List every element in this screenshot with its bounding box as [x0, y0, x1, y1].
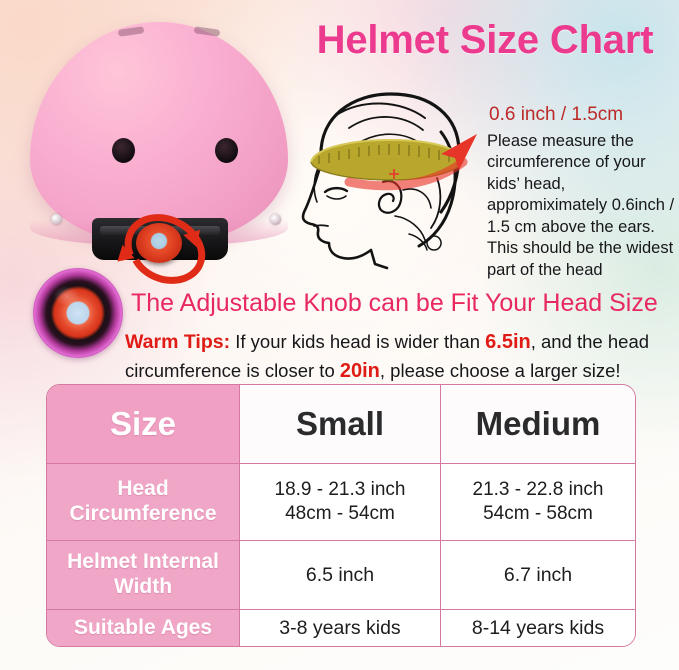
table-row: Head Circumference 18.9 - 21.3 inch48cm …: [47, 464, 635, 541]
adjustable-knob-headline: The Adjustable Knob can be Fit Your Head…: [131, 289, 658, 318]
row-label-suitable-ages: Suitable Ages: [47, 610, 240, 646]
helmet-top-vent-left: [118, 26, 145, 37]
warm-tips-text-1: If your kids head is wider than: [230, 331, 485, 352]
warm-tips-highlight-circumference: 20in: [340, 360, 380, 382]
helmet-shell: [30, 22, 288, 244]
adjustable-knob-icon: [33, 268, 123, 358]
table-header-size: Size: [47, 385, 240, 463]
helmet-rivet-right: [270, 214, 281, 225]
cell-suitable-ages-small: 3-8 years kids: [240, 610, 441, 646]
infographic-page: Helmet Size Chart: [0, 0, 679, 670]
row-label-head-circumference: Head Circumference: [47, 464, 240, 540]
helmet-product-image: [18, 16, 303, 278]
cell-internal-width-small: 6.5 inch: [240, 541, 441, 609]
table-row: Helmet Internal Width 6.5 inch 6.7 inch: [47, 541, 635, 610]
helmet-vent-hole-left: [112, 138, 135, 163]
warm-tips-label: Warm Tips:: [125, 331, 230, 353]
table-header-small: Small: [240, 385, 441, 463]
row-label-helmet-internal-width: Helmet Internal Width: [47, 541, 240, 609]
cell-head-circumference-small: 18.9 - 21.3 inch48cm - 54cm: [240, 464, 441, 540]
cell-head-circumference-medium: 21.3 - 22.8 inch54cm - 58cm: [441, 464, 635, 540]
measure-offset-label: 0.6 inch / 1.5cm: [489, 104, 623, 126]
page-title: Helmet Size Chart: [300, 19, 670, 62]
table-row: Suitable Ages 3-8 years kids 8-14 years …: [47, 610, 635, 646]
warm-tips-text-3: , please choose a larger size!: [380, 360, 621, 381]
warm-tips-note: Warm Tips: If your kids head is wider th…: [125, 328, 678, 385]
cell-suitable-ages-medium: 8-14 years kids: [441, 610, 635, 646]
helmet-top-vent-right: [194, 26, 221, 37]
helmet-rivet-left: [51, 214, 62, 225]
warm-tips-highlight-width: 6.5in: [485, 331, 531, 353]
helmet-vent-hole-right: [215, 138, 238, 163]
measure-instructions: Please measure the circumference of your…: [487, 131, 677, 281]
table-header-medium: Medium: [441, 385, 635, 463]
cell-internal-width-medium: 6.7 inch: [441, 541, 635, 609]
table-header-row: Size Small Medium: [47, 385, 635, 464]
head-measure-diagram: [291, 86, 496, 271]
size-chart-table: Size Small Medium Head Circumference 18.…: [46, 384, 636, 647]
helmet-adjust-knob: [136, 223, 182, 263]
